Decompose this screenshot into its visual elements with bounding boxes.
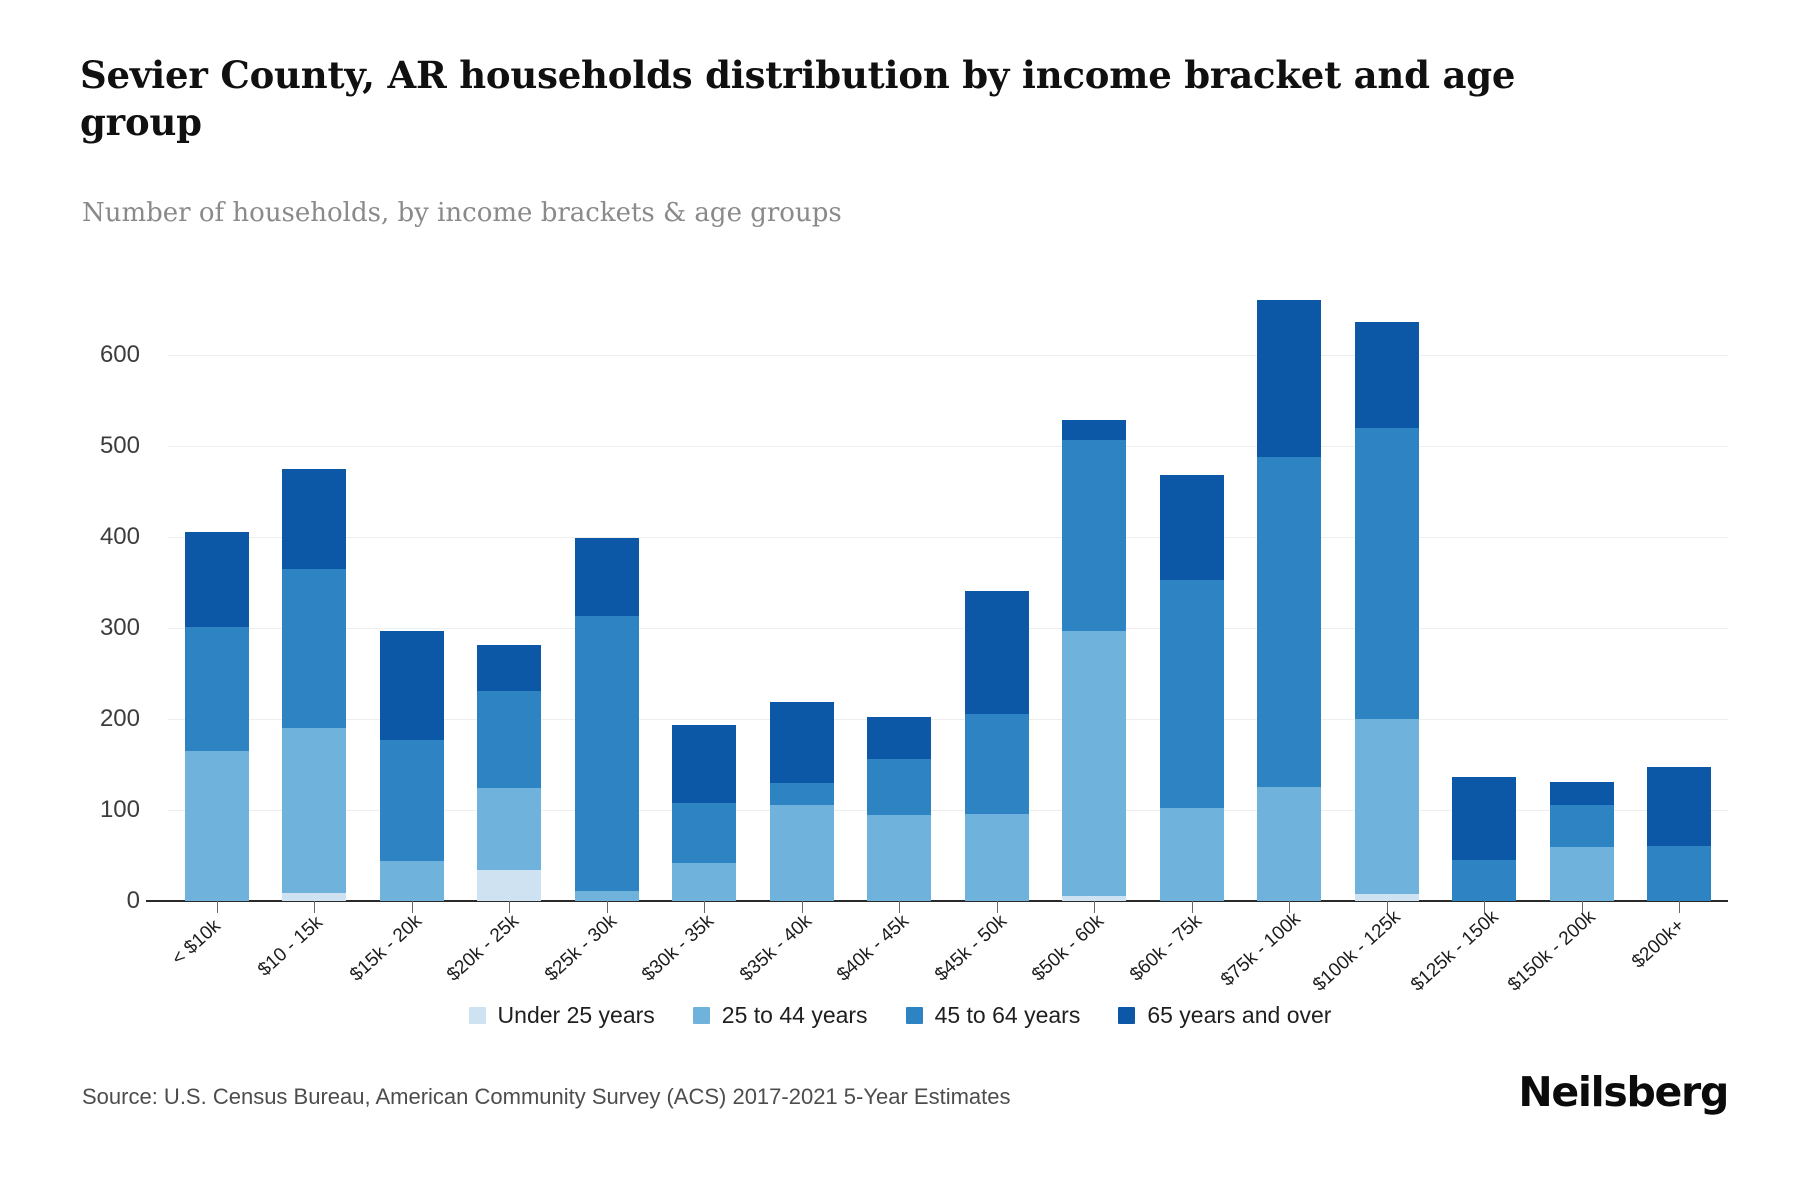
y-axis-tick-label: 200 [50, 705, 140, 733]
bar-segment[interactable] [1355, 428, 1419, 718]
bar-segment[interactable] [1550, 782, 1614, 806]
x-axis-tick-label: < $10k [168, 916, 226, 971]
legend-label: Under 25 years [498, 1002, 655, 1029]
legend-label: 25 to 44 years [722, 1002, 868, 1029]
x-axis-tick-label: $75k - 100k [1217, 909, 1306, 992]
bar-segment[interactable] [185, 532, 249, 627]
gridline [168, 628, 1728, 629]
x-axis-tick-label: $15k - 20k [346, 911, 427, 987]
y-axis-tick-label: 100 [50, 796, 140, 824]
legend-label: 65 years and over [1147, 1002, 1331, 1029]
x-axis-tick-label: $150k - 200k [1504, 907, 1600, 997]
bar-stack[interactable] [1550, 782, 1614, 901]
bar-segment[interactable] [1257, 457, 1321, 788]
bar-segment[interactable] [867, 815, 931, 901]
x-axis-tick-label: $35k - 40k [736, 911, 817, 987]
bar-segment[interactable] [965, 814, 1029, 901]
legend-swatch-icon [1118, 1007, 1135, 1024]
plot-area: 0100200300400500600 [168, 300, 1728, 901]
bar-segment[interactable] [282, 728, 346, 893]
y-axis-tick-label: 300 [50, 614, 140, 642]
x-axis-tick-label: $60k - 75k [1126, 911, 1207, 987]
bar-segment[interactable] [282, 569, 346, 728]
chart-legend: Under 25 years25 to 44 years45 to 64 yea… [0, 1002, 1800, 1029]
bar-segment[interactable] [380, 631, 444, 739]
bar-segment[interactable] [185, 751, 249, 901]
bar-segment[interactable] [1160, 580, 1224, 808]
bar-segment[interactable] [1257, 300, 1321, 457]
legend-item[interactable]: 45 to 64 years [906, 1002, 1081, 1029]
bar-segment[interactable] [282, 469, 346, 569]
x-axis-tick-label: $125k - 150k [1407, 907, 1503, 997]
bar-segment[interactable] [1355, 894, 1419, 901]
x-axis-tick-label: $50k - 60k [1028, 911, 1109, 987]
x-axis-tick-label: $30k - 35k [638, 911, 719, 987]
y-axis-tick-label: 400 [50, 523, 140, 551]
bar-stack[interactable] [1355, 322, 1419, 901]
bar-segment[interactable] [672, 863, 736, 901]
bar-segment[interactable] [185, 627, 249, 751]
bar-stack[interactable] [672, 725, 736, 901]
bar-segment[interactable] [477, 788, 541, 870]
bar-stack[interactable] [185, 532, 249, 901]
bar-stack[interactable] [282, 469, 346, 902]
y-axis-tick-label: 600 [50, 341, 140, 369]
bar-segment[interactable] [477, 691, 541, 788]
x-axis-tick [1679, 901, 1680, 913]
legend-swatch-icon [906, 1007, 923, 1024]
bar-segment[interactable] [575, 616, 639, 891]
bar-segment[interactable] [770, 783, 834, 806]
bar-segment[interactable] [867, 759, 931, 815]
gridline [168, 355, 1728, 356]
page-title: Sevier County, AR households distributio… [80, 52, 1640, 147]
bar-stack[interactable] [1257, 300, 1321, 901]
bar-segment[interactable] [672, 725, 736, 802]
x-axis-tick-label: $200k+ [1628, 915, 1689, 973]
bar-segment[interactable] [575, 891, 639, 901]
bar-segment[interactable] [477, 870, 541, 901]
gridline [168, 446, 1728, 447]
legend-swatch-icon [469, 1007, 486, 1024]
bar-segment[interactable] [1355, 719, 1419, 894]
bar-segment[interactable] [965, 591, 1029, 715]
legend-swatch-icon [693, 1007, 710, 1024]
bar-segment[interactable] [965, 714, 1029, 813]
x-axis-tick-label: $25k - 30k [541, 911, 622, 987]
bar-segment[interactable] [1062, 631, 1126, 896]
x-axis-tick [314, 901, 315, 913]
x-axis-tick-label: $20k - 25k [443, 911, 524, 987]
bar-segment[interactable] [380, 861, 444, 901]
bar-segment[interactable] [1257, 787, 1321, 901]
bar-segment[interactable] [282, 893, 346, 901]
bar-stack[interactable] [1062, 420, 1126, 901]
bar-segment[interactable] [1550, 847, 1614, 901]
gridline [168, 537, 1728, 538]
bar-stack[interactable] [867, 717, 931, 901]
x-axis-tick [217, 901, 218, 913]
legend-item[interactable]: Under 25 years [469, 1002, 655, 1029]
legend-item[interactable]: 25 to 44 years [693, 1002, 868, 1029]
bar-segment[interactable] [770, 805, 834, 901]
bar-stack[interactable] [1452, 777, 1516, 901]
bar-segment[interactable] [1452, 860, 1516, 901]
y-axis-tick-label: 500 [50, 432, 140, 460]
bar-segment[interactable] [1160, 475, 1224, 581]
bar-segment[interactable] [380, 740, 444, 861]
bar-segment[interactable] [770, 702, 834, 783]
page-subtitle: Number of households, by income brackets… [82, 198, 842, 228]
bar-segment[interactable] [1647, 846, 1711, 901]
source-note: Source: U.S. Census Bureau, American Com… [82, 1084, 1011, 1110]
legend-label: 45 to 64 years [935, 1002, 1081, 1029]
legend-item[interactable]: 65 years and over [1118, 1002, 1331, 1029]
bar-segment[interactable] [477, 645, 541, 691]
x-axis-tick-label: $10 - 15k [254, 912, 328, 981]
bar-segment[interactable] [1355, 322, 1419, 429]
bar-stack[interactable] [575, 538, 639, 901]
bar-segment[interactable] [1550, 805, 1614, 847]
x-axis-tick-label: $45k - 50k [931, 911, 1012, 987]
bar-segment[interactable] [1647, 767, 1711, 846]
bar-segment[interactable] [867, 717, 931, 759]
bar-stack[interactable] [1647, 767, 1711, 901]
bar-stack[interactable] [1160, 475, 1224, 901]
y-axis-tick-label: 0 [50, 887, 140, 915]
bar-segment[interactable] [1452, 777, 1516, 860]
x-axis-tick-label: $40k - 45k [833, 911, 914, 987]
bar-segment[interactable] [1062, 440, 1126, 630]
bar-segment[interactable] [575, 538, 639, 616]
bar-segment[interactable] [1160, 808, 1224, 901]
bar-stack[interactable] [965, 591, 1029, 901]
chart-page: Sevier County, AR households distributio… [0, 0, 1800, 1200]
brand-logo: Neilsberg [1518, 1068, 1728, 1116]
bar-segment[interactable] [1062, 420, 1126, 440]
bar-stack[interactable] [380, 631, 444, 901]
bar-stack[interactable] [477, 645, 541, 901]
bar-stack[interactable] [770, 702, 834, 901]
bar-segment[interactable] [672, 803, 736, 863]
x-axis-tick-label: $100k - 125k [1309, 907, 1405, 997]
